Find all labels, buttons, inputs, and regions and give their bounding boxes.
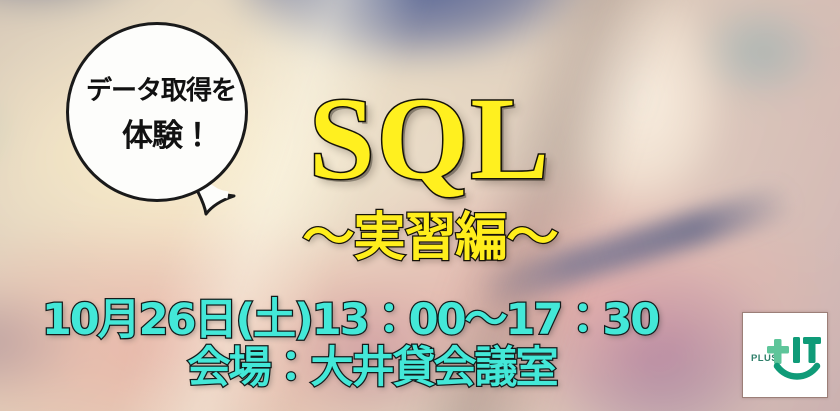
plus-it-logo[interactable]: PLUS [742, 312, 828, 398]
speech-bubble-line-1: データ取得を [86, 70, 236, 107]
seminar-banner: データ取得を 体験！ SQL 〜実習編〜 10月26日(土)13：00〜17：3… [0, 0, 840, 411]
speech-bubble-line-2: 体験！ [122, 110, 212, 155]
event-info-block: 10月26日(土)13：00〜17：30 会場：大井貸会議室 [0, 296, 700, 392]
logo-smile-icon [777, 366, 817, 377]
speech-bubble: データ取得を 体験！ [66, 22, 248, 202]
event-date-time: 10月26日(土)13：00〜17：30 [0, 296, 700, 344]
logo-letter-t [803, 337, 821, 363]
logo-plus-label: PLUS [751, 353, 778, 364]
event-venue: 会場：大井貸会議室 [22, 344, 722, 392]
logo-letter-i [793, 337, 800, 363]
speech-bubble-text: データ取得を 体験！ [69, 25, 245, 199]
